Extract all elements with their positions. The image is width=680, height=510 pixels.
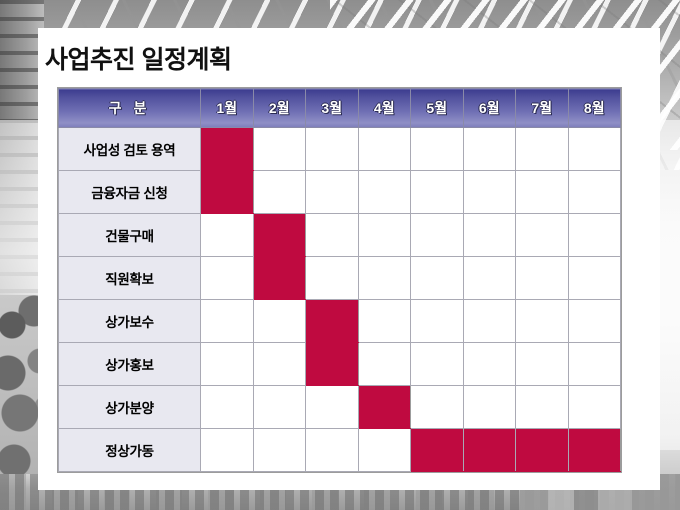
- gantt-empty-cell: [516, 343, 569, 386]
- gantt-bar-cell: [253, 214, 306, 257]
- column-header-month-3: 3월: [306, 89, 359, 128]
- gantt-empty-cell: [358, 257, 411, 300]
- page-title: 사업추진 일정계획: [45, 40, 231, 76]
- gantt-empty-cell: [411, 128, 464, 171]
- table-row: 건물구매: [59, 214, 621, 257]
- gantt-empty-cell: [253, 429, 306, 472]
- gantt-empty-cell: [568, 128, 621, 171]
- gantt-bar-cell: [201, 128, 254, 171]
- table-row: 상가보수: [59, 300, 621, 343]
- column-header-month-1: 1월: [201, 89, 254, 128]
- gantt-empty-cell: [568, 300, 621, 343]
- gantt-empty-cell: [306, 257, 359, 300]
- table-row: 상가홍보: [59, 343, 621, 386]
- column-header-category: 구 분: [59, 89, 201, 128]
- row-label-task: 정상가동: [59, 429, 201, 472]
- gantt-empty-cell: [253, 386, 306, 429]
- schedule-gantt-table: 구 분 1월 2월 3월 4월 5월 6월 7월 8월 사업성 검토 용역금융자…: [58, 88, 621, 472]
- gantt-empty-cell: [253, 171, 306, 214]
- gantt-bar-cell: [411, 429, 464, 472]
- row-label-task: 건물구매: [59, 214, 201, 257]
- gantt-empty-cell: [358, 300, 411, 343]
- table-row: 금융자금 신청: [59, 171, 621, 214]
- table-row: 정상가동: [59, 429, 621, 472]
- gantt-empty-cell: [516, 257, 569, 300]
- gantt-empty-cell: [411, 214, 464, 257]
- gantt-bar-cell: [306, 300, 359, 343]
- gantt-empty-cell: [201, 386, 254, 429]
- column-header-month-5: 5월: [411, 89, 464, 128]
- gantt-bar-cell: [516, 429, 569, 472]
- gantt-empty-cell: [358, 343, 411, 386]
- gantt-empty-cell: [568, 257, 621, 300]
- gantt-empty-cell: [253, 128, 306, 171]
- gantt-empty-cell: [201, 343, 254, 386]
- gantt-empty-cell: [358, 171, 411, 214]
- gantt-empty-cell: [568, 343, 621, 386]
- gantt-body: 사업성 검토 용역금융자금 신청건물구매직원확보상가보수상가홍보상가분양정상가동: [59, 128, 621, 472]
- gantt-empty-cell: [516, 300, 569, 343]
- gantt-empty-cell: [306, 386, 359, 429]
- slide-canvas: 사업추진 일정계획 구 분 1월 2월 3월 4월 5월 6월 7월 8월 사업…: [0, 0, 680, 510]
- gantt-empty-cell: [463, 300, 516, 343]
- gantt-empty-cell: [358, 214, 411, 257]
- gantt-empty-cell: [358, 429, 411, 472]
- gantt-empty-cell: [306, 429, 359, 472]
- gantt-empty-cell: [253, 300, 306, 343]
- row-label-task: 상가분양: [59, 386, 201, 429]
- column-header-month-6: 6월: [463, 89, 516, 128]
- gantt-empty-cell: [568, 386, 621, 429]
- gantt-empty-cell: [463, 343, 516, 386]
- gantt-empty-cell: [516, 214, 569, 257]
- gantt-empty-cell: [201, 257, 254, 300]
- gantt-empty-cell: [411, 300, 464, 343]
- row-label-task: 사업성 검토 용역: [59, 128, 201, 171]
- gantt-bar-cell: [358, 386, 411, 429]
- gantt-empty-cell: [358, 128, 411, 171]
- column-header-month-2: 2월: [253, 89, 306, 128]
- gantt-empty-cell: [201, 300, 254, 343]
- gantt-empty-cell: [463, 171, 516, 214]
- table-row: 상가분양: [59, 386, 621, 429]
- gantt-empty-cell: [568, 214, 621, 257]
- gantt-empty-cell: [568, 171, 621, 214]
- table-row: 직원확보: [59, 257, 621, 300]
- gantt-empty-cell: [411, 171, 464, 214]
- column-header-month-8: 8월: [568, 89, 621, 128]
- gantt-empty-cell: [516, 171, 569, 214]
- gantt-empty-cell: [411, 386, 464, 429]
- gantt-empty-cell: [201, 214, 254, 257]
- gantt-bar-cell: [253, 257, 306, 300]
- column-header-month-7: 7월: [516, 89, 569, 128]
- gantt-empty-cell: [306, 171, 359, 214]
- column-header-month-4: 4월: [358, 89, 411, 128]
- row-label-task: 금융자금 신청: [59, 171, 201, 214]
- gantt-empty-cell: [201, 429, 254, 472]
- gantt-empty-cell: [463, 128, 516, 171]
- gantt-empty-cell: [463, 257, 516, 300]
- gantt-empty-cell: [463, 214, 516, 257]
- gantt-header-row: 구 분 1월 2월 3월 4월 5월 6월 7월 8월: [59, 89, 621, 128]
- gantt-empty-cell: [306, 214, 359, 257]
- gantt-bar-cell: [463, 429, 516, 472]
- table-row: 사업성 검토 용역: [59, 128, 621, 171]
- gantt-empty-cell: [463, 386, 516, 429]
- row-label-task: 상가보수: [59, 300, 201, 343]
- gantt-empty-cell: [411, 257, 464, 300]
- gantt-bar-cell: [201, 171, 254, 214]
- gantt-empty-cell: [516, 128, 569, 171]
- gantt-empty-cell: [306, 128, 359, 171]
- gantt-empty-cell: [411, 343, 464, 386]
- gantt-header: 구 분 1월 2월 3월 4월 5월 6월 7월 8월: [59, 89, 621, 128]
- row-label-task: 상가홍보: [59, 343, 201, 386]
- gantt-bar-cell: [306, 343, 359, 386]
- gantt-bar-cell: [568, 429, 621, 472]
- gantt-empty-cell: [516, 386, 569, 429]
- row-label-task: 직원확보: [59, 257, 201, 300]
- gantt-empty-cell: [253, 343, 306, 386]
